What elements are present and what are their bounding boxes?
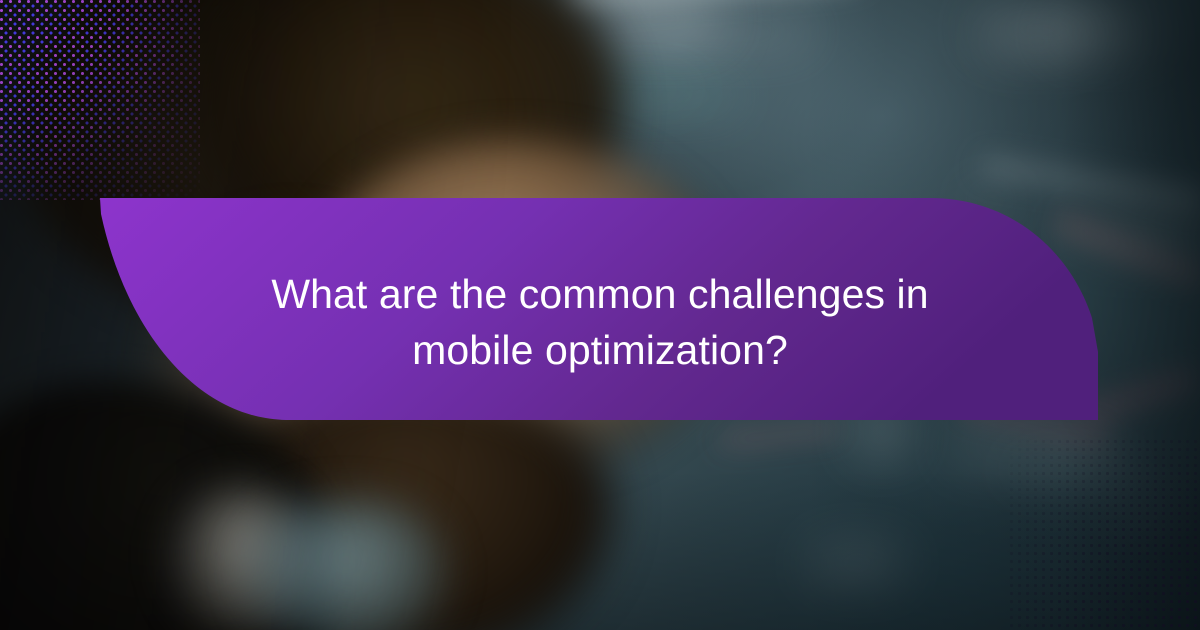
banner-line-2: mobile optimization? <box>230 322 970 378</box>
banner-question-text: What are the common challenges in mobile… <box>230 266 970 378</box>
banner-line-1: What are the common challenges in <box>230 266 970 322</box>
question-banner: What are the common challenges in mobile… <box>0 0 1200 630</box>
social-card: What are the common challenges in mobile… <box>0 0 1200 630</box>
